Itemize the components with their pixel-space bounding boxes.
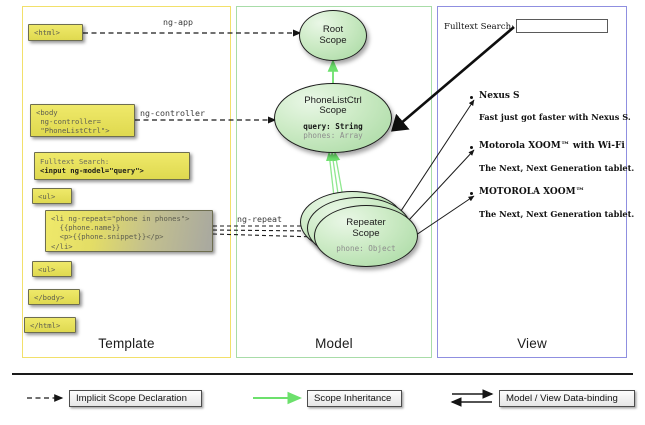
- legend-divider: [12, 373, 633, 375]
- search-input[interactable]: [516, 19, 608, 33]
- scope-phonelistctrl: PhoneListCtrl Scope query: String phones…: [274, 83, 392, 153]
- view-item-snippet: The Next, Next Generation tablet.: [479, 163, 634, 173]
- view-item-snippet: Fast just got faster with Nexus S.: [479, 112, 631, 122]
- diagram-canvas: Template Model View: [0, 0, 645, 425]
- code-box-fulltext-search-line1: Fulltext Search:: [40, 157, 109, 166]
- scope-prop-query: query: String: [303, 122, 362, 131]
- view-item-name: Nexus S: [479, 91, 520, 101]
- panel-template-label: Template: [23, 336, 230, 351]
- scope-repeater-title: Repeater Scope: [346, 218, 385, 239]
- code-box-li-ng-repeat: <li ng-repeat="phone in phones"> {{phone…: [45, 210, 213, 252]
- code-box-fulltext-search: Fulltext Search: <input ng-model="query"…: [34, 152, 190, 180]
- scope-prop-phones: phones: Array: [303, 131, 362, 140]
- legend-arrow-databinding: [452, 394, 492, 402]
- scope-repeater-props: phone: Object: [336, 244, 395, 253]
- view-item-name: MOTOROLA XOOM™: [479, 187, 585, 197]
- code-box-html-close: </html>: [24, 317, 76, 333]
- scope-phonelistctrl-title: PhoneListCtrl Scope: [304, 96, 362, 117]
- view-item-name: Motorola XOOM™ with Wi-Fi: [479, 141, 625, 151]
- panel-model-label: Model: [237, 336, 431, 351]
- scope-root-title: Root Scope: [319, 25, 346, 46]
- code-box-body-open: <body ng-controller= "PhoneListCtrl">: [30, 104, 135, 137]
- view-search-label: Fulltext Search:: [444, 22, 514, 32]
- panel-template: Template: [22, 6, 231, 358]
- edge-label-ng-controller: ng-controller: [140, 108, 205, 118]
- edge-label-ng-app: ng-app: [163, 17, 193, 27]
- scope-prop-phone: phone: Object: [336, 244, 395, 253]
- view-item-snippet: The Next, Next Generation tablet.: [479, 209, 634, 219]
- legend-item-scope-inheritance: Scope Inheritance: [307, 390, 402, 407]
- code-box-html-open: <html>: [28, 24, 83, 41]
- panel-view-label: View: [438, 336, 626, 351]
- legend-item-implicit-scope-declaration: Implicit Scope Declaration: [69, 390, 202, 407]
- code-box-ul-close: <ul>: [32, 261, 72, 277]
- legend-item-model-view-data-binding: Model / View Data-binding: [499, 390, 635, 407]
- view-list-bullet: [470, 96, 473, 99]
- scope-phonelistctrl-props: query: String phones: Array: [303, 122, 362, 141]
- edge-label-ng-repeat: ng-repeat: [237, 214, 282, 224]
- view-list-bullet: [470, 192, 473, 195]
- scope-root: Root Scope: [299, 10, 367, 61]
- code-box-ul-open: <ul>: [32, 188, 72, 204]
- view-list-bullet: [470, 146, 473, 149]
- code-box-fulltext-search-line2: <input ng-model="query">: [40, 166, 144, 175]
- scope-repeater: Repeater Scope phone: Object: [314, 205, 418, 267]
- code-box-body-close: </body>: [28, 289, 80, 305]
- panel-view: View: [437, 6, 627, 358]
